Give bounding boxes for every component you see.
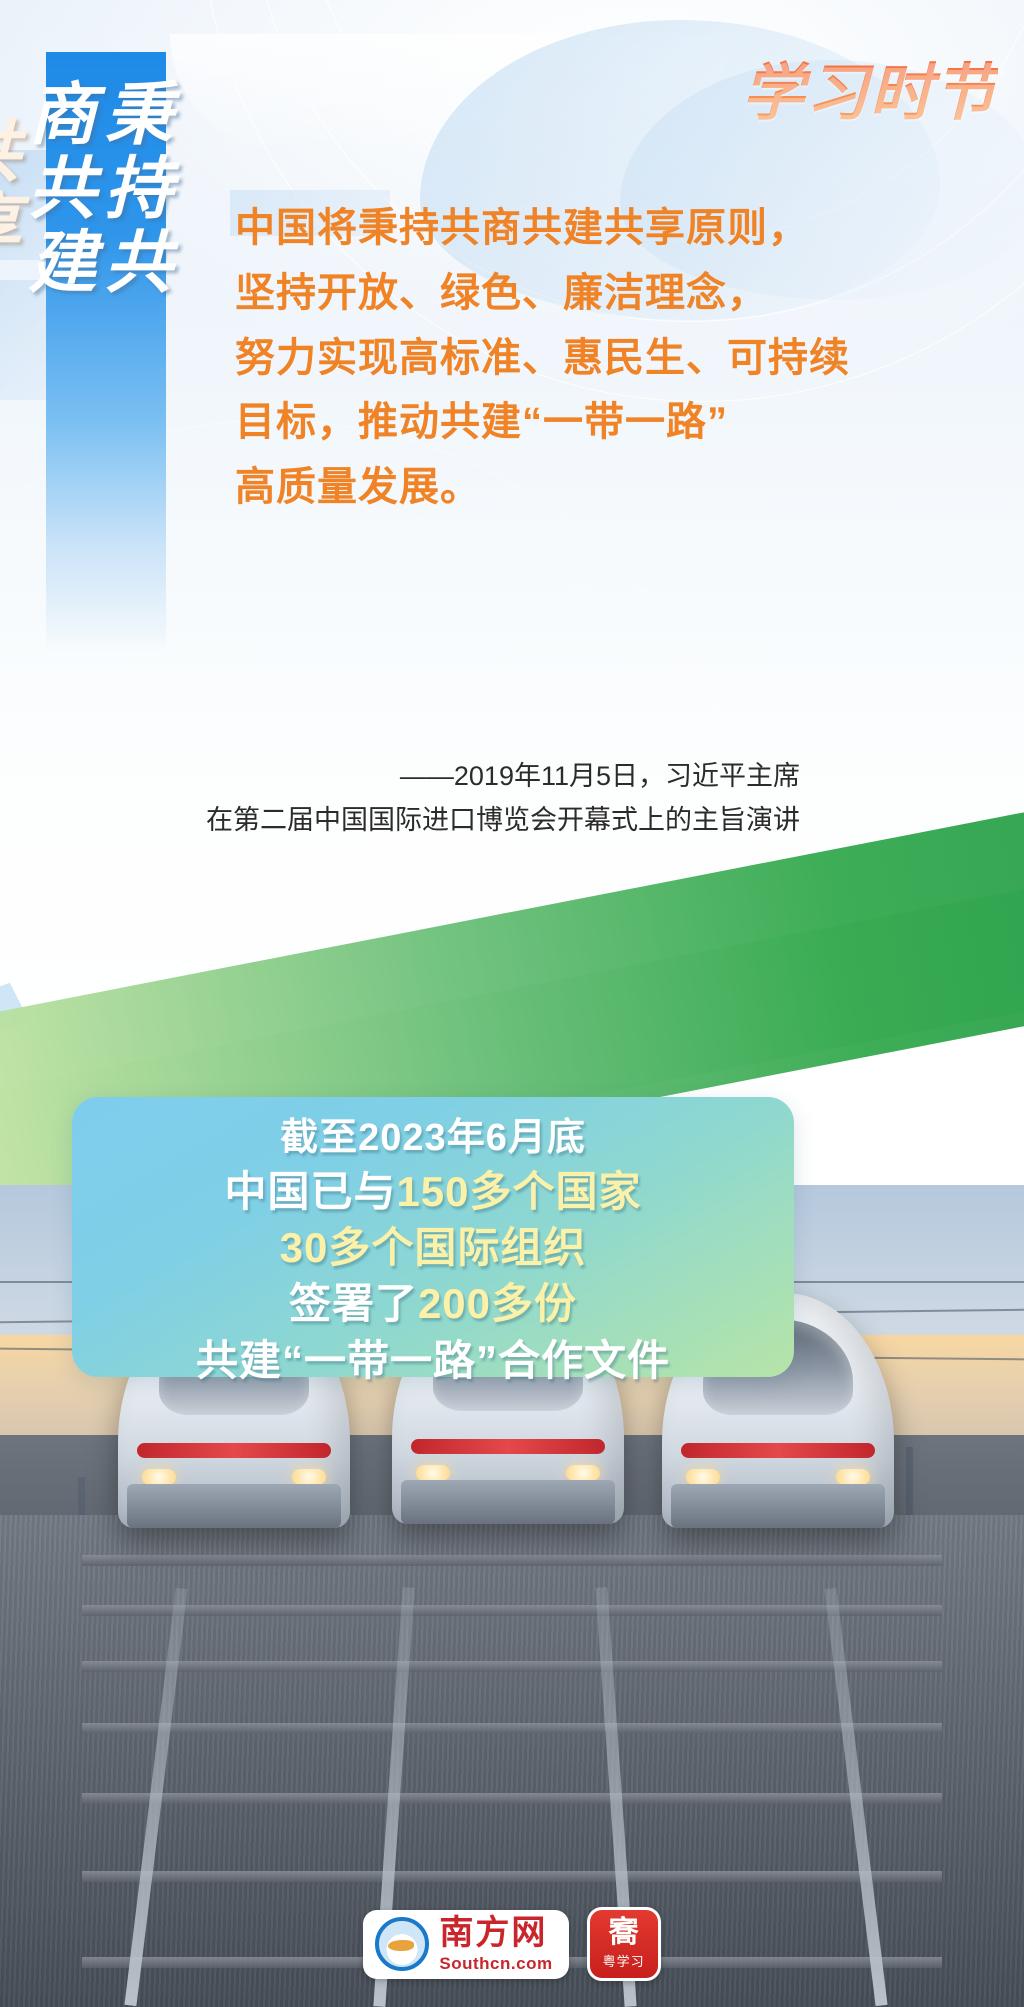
card-stat-line-2: 30多个国际组织 bbox=[72, 1220, 794, 1276]
card-stat-prefix: 签署了 bbox=[289, 1280, 418, 1327]
vertical-title-seg-2: 商共建 bbox=[18, 78, 94, 300]
southcn-name-cn: 南方网 bbox=[439, 1917, 552, 1951]
train-headlight bbox=[686, 1469, 720, 1485]
quote-line: 努力实现高标准、惠民生、可持续 bbox=[235, 326, 795, 391]
card-stat-line-3: 签署了200多份 bbox=[72, 1276, 794, 1332]
poster-root: 学习时节 秉持共 商共建 共享 原则 中国将秉持共商共建共享原则， 坚持开放、绿… bbox=[0, 0, 1024, 2007]
sleeper bbox=[82, 1555, 942, 1566]
yuexuexi-logo[interactable]: 㝯 粤学习 bbox=[587, 1907, 661, 1981]
card-stat-suffix: 多个国家 bbox=[470, 1168, 642, 1215]
yuexuexi-label: 粤学习 bbox=[603, 1951, 645, 1970]
card-final-line: 共建“一带一路”合作文件 bbox=[72, 1333, 794, 1389]
card-stat-suffix: 多个国际组织 bbox=[328, 1224, 586, 1271]
quote-line: 高质量发展。 bbox=[235, 455, 795, 520]
quote-line: 目标，推动共建“一带一路” bbox=[235, 390, 795, 455]
quote-attribution: ——2019年11月5日，习近平主席 在第二届中国国际进口博览会开幕式上的主旨演… bbox=[180, 755, 800, 842]
brand-title: 学习时节 bbox=[742, 42, 998, 132]
card-stat-highlight: 150 bbox=[396, 1168, 469, 1215]
card-stat-suffix: 多份 bbox=[491, 1280, 577, 1327]
sleeper bbox=[82, 1871, 942, 1882]
quote-line: 中国将秉持共商共建共享原则， bbox=[235, 196, 795, 261]
statistics-card: 截至2023年6月底 中国已与150多个国家 30多个国际组织 签署了200多份… bbox=[72, 1097, 794, 1377]
sleeper bbox=[82, 1661, 942, 1672]
train-headlight bbox=[566, 1465, 600, 1481]
sleeper bbox=[82, 1723, 942, 1734]
globe-icon bbox=[375, 1917, 429, 1971]
train-stripe bbox=[681, 1443, 876, 1458]
train-headlight bbox=[416, 1465, 450, 1481]
sleeper bbox=[82, 1605, 942, 1616]
footer-logos: 南方网 Southcn.com 㝯 粤学习 bbox=[0, 1907, 1024, 1981]
train-skirt bbox=[127, 1484, 340, 1528]
southcn-wordmark: 南方网 Southcn.com bbox=[439, 1917, 552, 1972]
yuexuexi-mark-icon: 㝯 bbox=[609, 1918, 639, 1948]
vertical-calligraphy-title: 秉持共 商共建 共享 原则 bbox=[52, 78, 170, 300]
southcn-name-en: Southcn.com bbox=[439, 1955, 552, 1972]
sleeper bbox=[82, 1793, 942, 1804]
card-stat-highlight: 200 bbox=[418, 1280, 491, 1327]
train-headlight bbox=[142, 1469, 176, 1485]
vertical-title-seg-1: 秉持共 bbox=[94, 78, 170, 300]
vertical-title-seg-3: 共享 bbox=[0, 78, 18, 300]
train-skirt bbox=[671, 1484, 884, 1528]
train-skirt bbox=[401, 1480, 614, 1524]
train-stripe bbox=[411, 1439, 606, 1454]
attribution-line: ——2019年11月5日，习近平主席 bbox=[180, 755, 800, 799]
decorative-band bbox=[170, 34, 730, 154]
card-stat-line-1: 中国已与150多个国家 bbox=[72, 1164, 794, 1220]
card-stat-highlight: 30 bbox=[280, 1224, 329, 1271]
card-stat-prefix: 中国已与 bbox=[224, 1168, 396, 1215]
attribution-line: 在第二届中国国际进口博览会开幕式上的主旨演讲 bbox=[180, 799, 800, 843]
southcn-logo[interactable]: 南方网 Southcn.com bbox=[363, 1910, 568, 1979]
quote-line: 坚持开放、绿色、廉洁理念， bbox=[235, 261, 795, 326]
train-stripe bbox=[137, 1443, 332, 1458]
main-quote: 中国将秉持共商共建共享原则， 坚持开放、绿色、廉洁理念， 努力实现高标准、惠民生… bbox=[235, 196, 795, 520]
card-heading: 截至2023年6月底 bbox=[72, 1113, 794, 1164]
train-headlight bbox=[292, 1469, 326, 1485]
train-headlight bbox=[836, 1469, 870, 1485]
